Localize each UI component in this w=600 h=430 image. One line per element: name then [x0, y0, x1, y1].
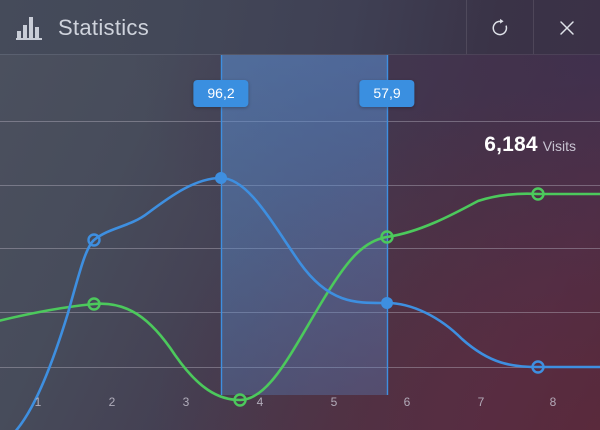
- data-point-marker-active[interactable]: [215, 172, 227, 184]
- chart-area: 96,2 57,9 6,184Visits 1 2 3 4 5 6 7 8: [0, 55, 600, 430]
- close-button[interactable]: [533, 0, 600, 55]
- x-axis-tick: 7: [478, 395, 485, 409]
- header-buttons: [466, 0, 600, 55]
- chart-svg: [0, 55, 600, 430]
- visits-value: 6,184: [484, 133, 538, 156]
- close-icon: [558, 19, 576, 37]
- tooltip-badge-2[interactable]: 57,9: [359, 80, 414, 107]
- refresh-button[interactable]: [466, 0, 533, 55]
- x-axis-tick: 5: [331, 395, 338, 409]
- x-axis-tick: 1: [35, 395, 42, 409]
- bar-chart-icon: [16, 15, 44, 41]
- header-left-group: Statistics: [0, 0, 149, 55]
- x-axis-tick: 4: [257, 395, 264, 409]
- statistics-widget: Statistics: [0, 0, 600, 430]
- x-axis-tick: 2: [109, 395, 116, 409]
- x-axis-tick: 6: [404, 395, 411, 409]
- data-point-marker-active[interactable]: [381, 297, 393, 309]
- x-axis-tick: 3: [183, 395, 190, 409]
- tooltip-badge-1[interactable]: 96,2: [193, 80, 248, 107]
- visits-summary: 6,184Visits: [484, 133, 576, 157]
- x-axis-labels: 1 2 3 4 5 6 7 8: [0, 395, 600, 430]
- x-axis-tick: 8: [550, 395, 557, 409]
- window-header: Statistics: [0, 0, 600, 55]
- visits-label: Visits: [543, 138, 576, 154]
- refresh-icon: [490, 18, 510, 38]
- page-title: Statistics: [58, 15, 149, 41]
